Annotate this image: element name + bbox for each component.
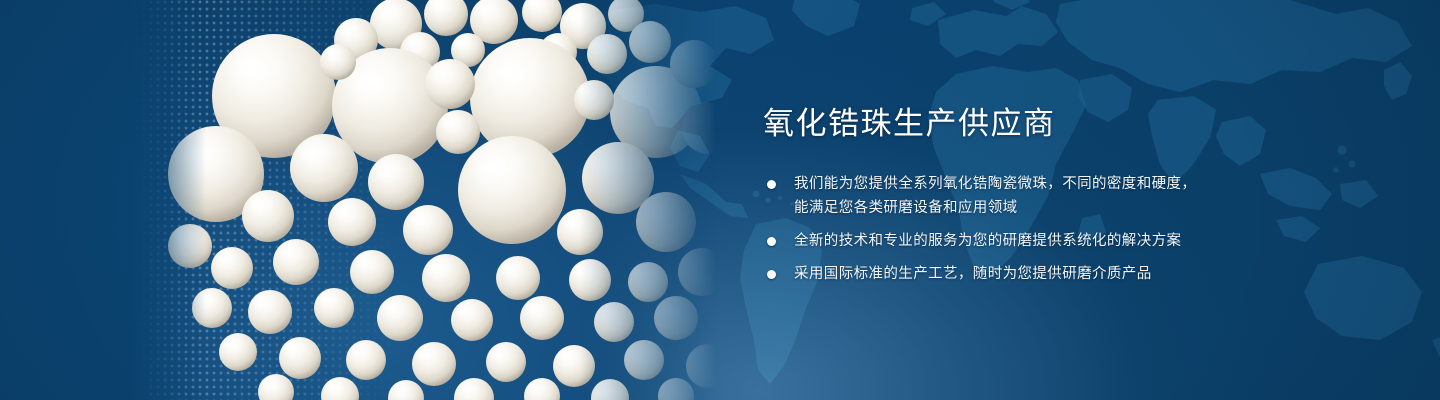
bullet-dot-icon xyxy=(767,270,776,279)
list-item-line-1: 全新的技术和专业的服务为您的研磨提供系统化的解决方案 xyxy=(794,229,1383,253)
feature-list: 我们能为您提供全系列氧化锆陶瓷微珠，不同的密度和硬度， 能满足您各类研磨设备和应… xyxy=(763,172,1383,286)
bullet-dot-icon xyxy=(767,180,776,189)
list-item-line-1: 采用国际标准的生产工艺，随时为您提供研磨介质产品 xyxy=(794,262,1383,286)
bullet-dot-icon xyxy=(767,237,776,246)
list-item: 全新的技术和专业的服务为您的研磨提供系统化的解决方案 xyxy=(763,229,1383,253)
list-item: 我们能为您提供全系列氧化锆陶瓷微珠，不同的密度和硬度， 能满足您各类研磨设备和应… xyxy=(763,172,1383,220)
banner-copy: 氧化锆珠生产供应商 我们能为您提供全系列氧化锆陶瓷微珠，不同的密度和硬度， 能满… xyxy=(763,104,1383,286)
zirconia-beads-image xyxy=(128,0,728,400)
page-title: 氧化锆珠生产供应商 xyxy=(763,104,1383,144)
list-item-line-1: 我们能为您提供全系列氧化锆陶瓷微珠，不同的密度和硬度， xyxy=(794,172,1383,196)
list-item: 采用国际标准的生产工艺，随时为您提供研磨介质产品 xyxy=(763,262,1383,286)
hero-banner: 氧化锆珠生产供应商 我们能为您提供全系列氧化锆陶瓷微珠，不同的密度和硬度， 能满… xyxy=(0,0,1440,400)
list-item-line-2: 能满足您各类研磨设备和应用领域 xyxy=(794,196,1383,220)
